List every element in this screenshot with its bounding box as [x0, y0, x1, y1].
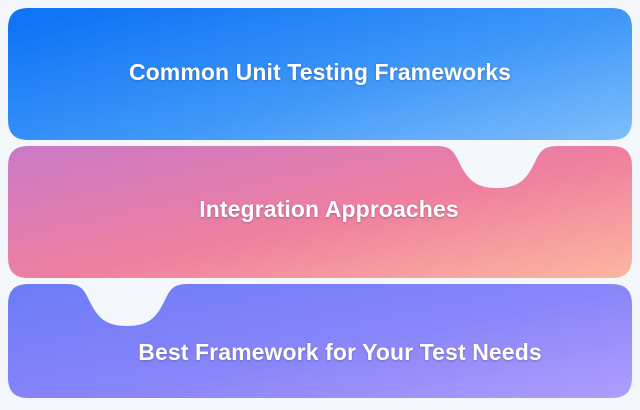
- band-middle-label: Integration Approaches: [9, 196, 640, 223]
- diagram-canvas: Common Unit Testing Frameworks Integrati…: [0, 0, 640, 410]
- band-bottom-label: Best Framework for Your Test Needs: [20, 339, 640, 366]
- band-top-label: Common Unit Testing Frameworks: [0, 59, 640, 86]
